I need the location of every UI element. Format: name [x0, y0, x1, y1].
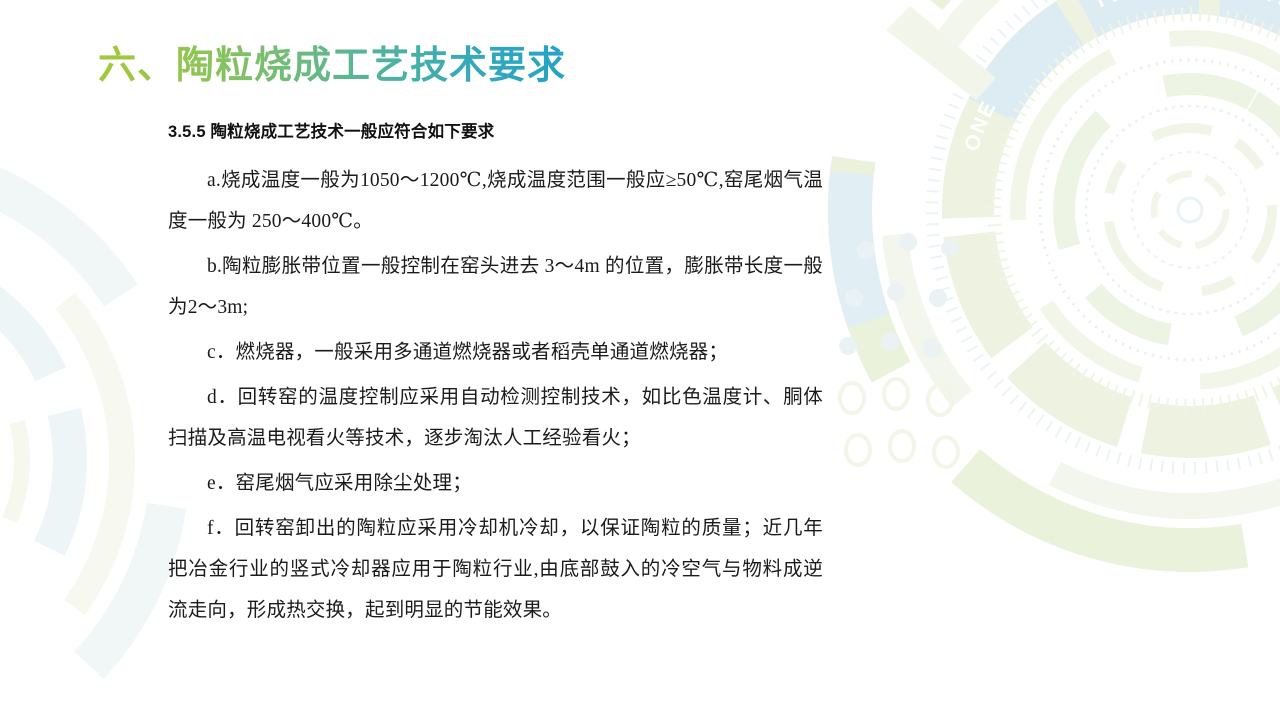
deco-left-arc3: [0, 187, 143, 720]
body-paragraph-b: b.陶粒膨胀带位置一般控制在窑头进去 3～4m 的位置，膨胀带长度一般为2～3m…: [168, 246, 823, 328]
deco-arc-mid1: [970, 0, 1280, 430]
deco-core-dot: [1178, 198, 1202, 222]
body-paragraph-c: c．燃烧器，一般采用多通道燃烧器或者稻壳单通道燃烧器；: [168, 332, 823, 373]
deco-arc-label-ring-teal: [890, 0, 1280, 510]
body-paragraph-d: d．回转窑的温度控制应采用自动检测控制技术，如比色温度计、胴体扫描及高温电视看火…: [168, 377, 823, 459]
page-title: 六、陶粒烧成工艺技术要求: [98, 44, 566, 90]
deco-arc-label-ring: [960, 0, 1280, 440]
deco-dashed-ring1: [1040, 60, 1280, 360]
slide-body: 3.5.5 陶粒烧成工艺技术一般应符合如下要求 a.烧成温度一般为1050～12…: [168, 118, 823, 635]
deco-arc-outer-teal: [790, 0, 1280, 610]
deco-arc-label-one: ONE: [960, 97, 1001, 154]
deco-arc-inner1: [1074, 94, 1280, 325]
deco-left-arc4: [0, 265, 65, 655]
deco-arc-outer: [790, 0, 1280, 610]
deco-tick-ring2: [828, 0, 1280, 572]
deco-tick-ring: [922, 0, 1280, 478]
body-paragraph-a: a.烧成温度一般为1050～1200℃,烧成温度范围一般应≥50℃,窑尾烟气温度…: [168, 160, 823, 242]
deco-arc-core: [1139, 159, 1240, 260]
deco-dashed-ring2: [1086, 106, 1280, 314]
slide-title-wrap: 六、陶粒烧成工艺技术要求: [98, 44, 566, 90]
deco-dot-grid: [839, 233, 959, 467]
hud-circle-decoration-right: ONE TWO THREE: [790, 0, 1280, 610]
section-subheading: 3.5.5 陶粒烧成工艺技术一般应符合如下要求: [168, 118, 823, 142]
deco-arc-ring2: [790, 0, 1280, 610]
deco-arc-label-three: THREE: [1261, 0, 1280, 40]
deco-arc-label-two: TWO: [1090, 0, 1150, 14]
deco-arc-mid2: [1018, 38, 1280, 382]
slide-canvas: ONE TWO THREE: [0, 0, 1280, 720]
deco-dashed-ring3: [1132, 152, 1248, 268]
deco-pointer-left: [886, 6, 996, 100]
body-paragraph-f: f．回转窑卸出的陶粒应采用冷却机冷却，以保证陶粒的质量；近几年把冶金行业的竖式冷…: [168, 508, 823, 631]
body-paragraph-e: e．窑尾烟气应采用除尘处理；: [168, 463, 823, 504]
